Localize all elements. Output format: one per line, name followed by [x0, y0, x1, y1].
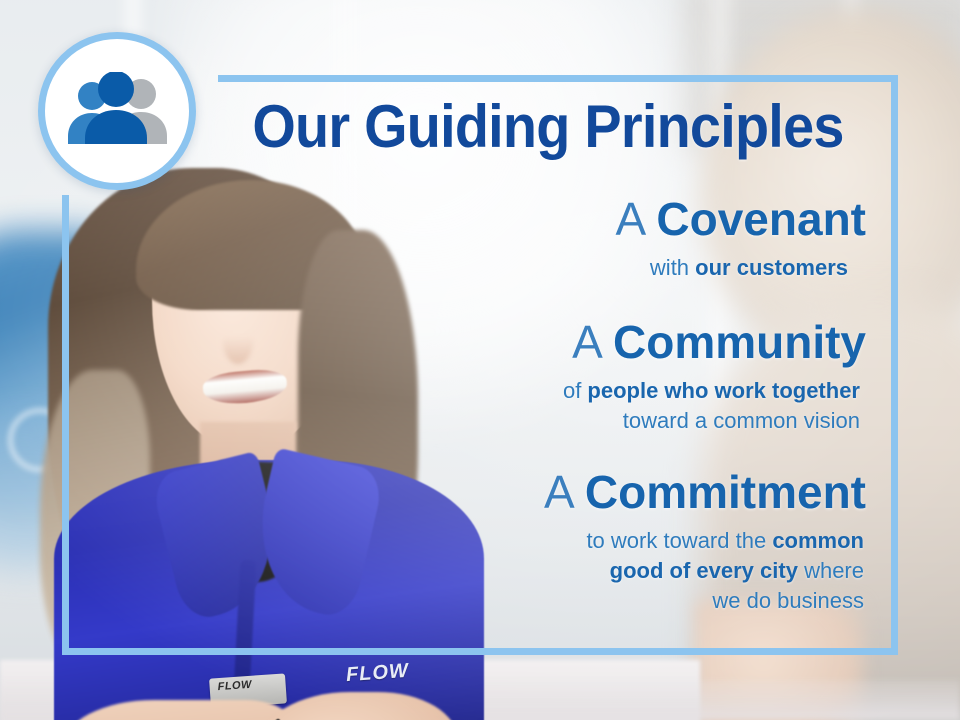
principle-commitment: A Commitment to work toward the commongo…: [218, 468, 898, 617]
principle-subtext: with our customers: [218, 253, 866, 283]
principle-heading: A Covenant: [218, 195, 866, 245]
principle-word: Commitment: [585, 466, 866, 518]
chest-logo: FLOW: [345, 660, 409, 687]
guiding-principles-graphic: FLOW Our Guidin: [0, 0, 960, 720]
principle-subtext: of people who work togethertoward a comm…: [218, 376, 866, 437]
principle-word: Community: [613, 316, 866, 368]
principle-article: A: [544, 466, 572, 518]
principle-article: A: [615, 193, 643, 245]
principle-article: A: [572, 316, 600, 368]
principle-covenant: A Covenant with our customers: [218, 195, 898, 283]
principle-heading: A Commitment: [218, 468, 866, 518]
principle-subtext: to work toward the commongood of every c…: [218, 526, 866, 617]
text-content: Our Guiding Principles A Covenant with o…: [218, 75, 898, 655]
page-title: Our Guiding Principles: [241, 97, 855, 157]
people-group-badge: [38, 32, 196, 190]
principle-word: Covenant: [656, 193, 866, 245]
principle-community: A Community of people who work togethert…: [218, 318, 898, 436]
principle-heading: A Community: [218, 318, 866, 368]
people-group-icon: [63, 72, 171, 150]
